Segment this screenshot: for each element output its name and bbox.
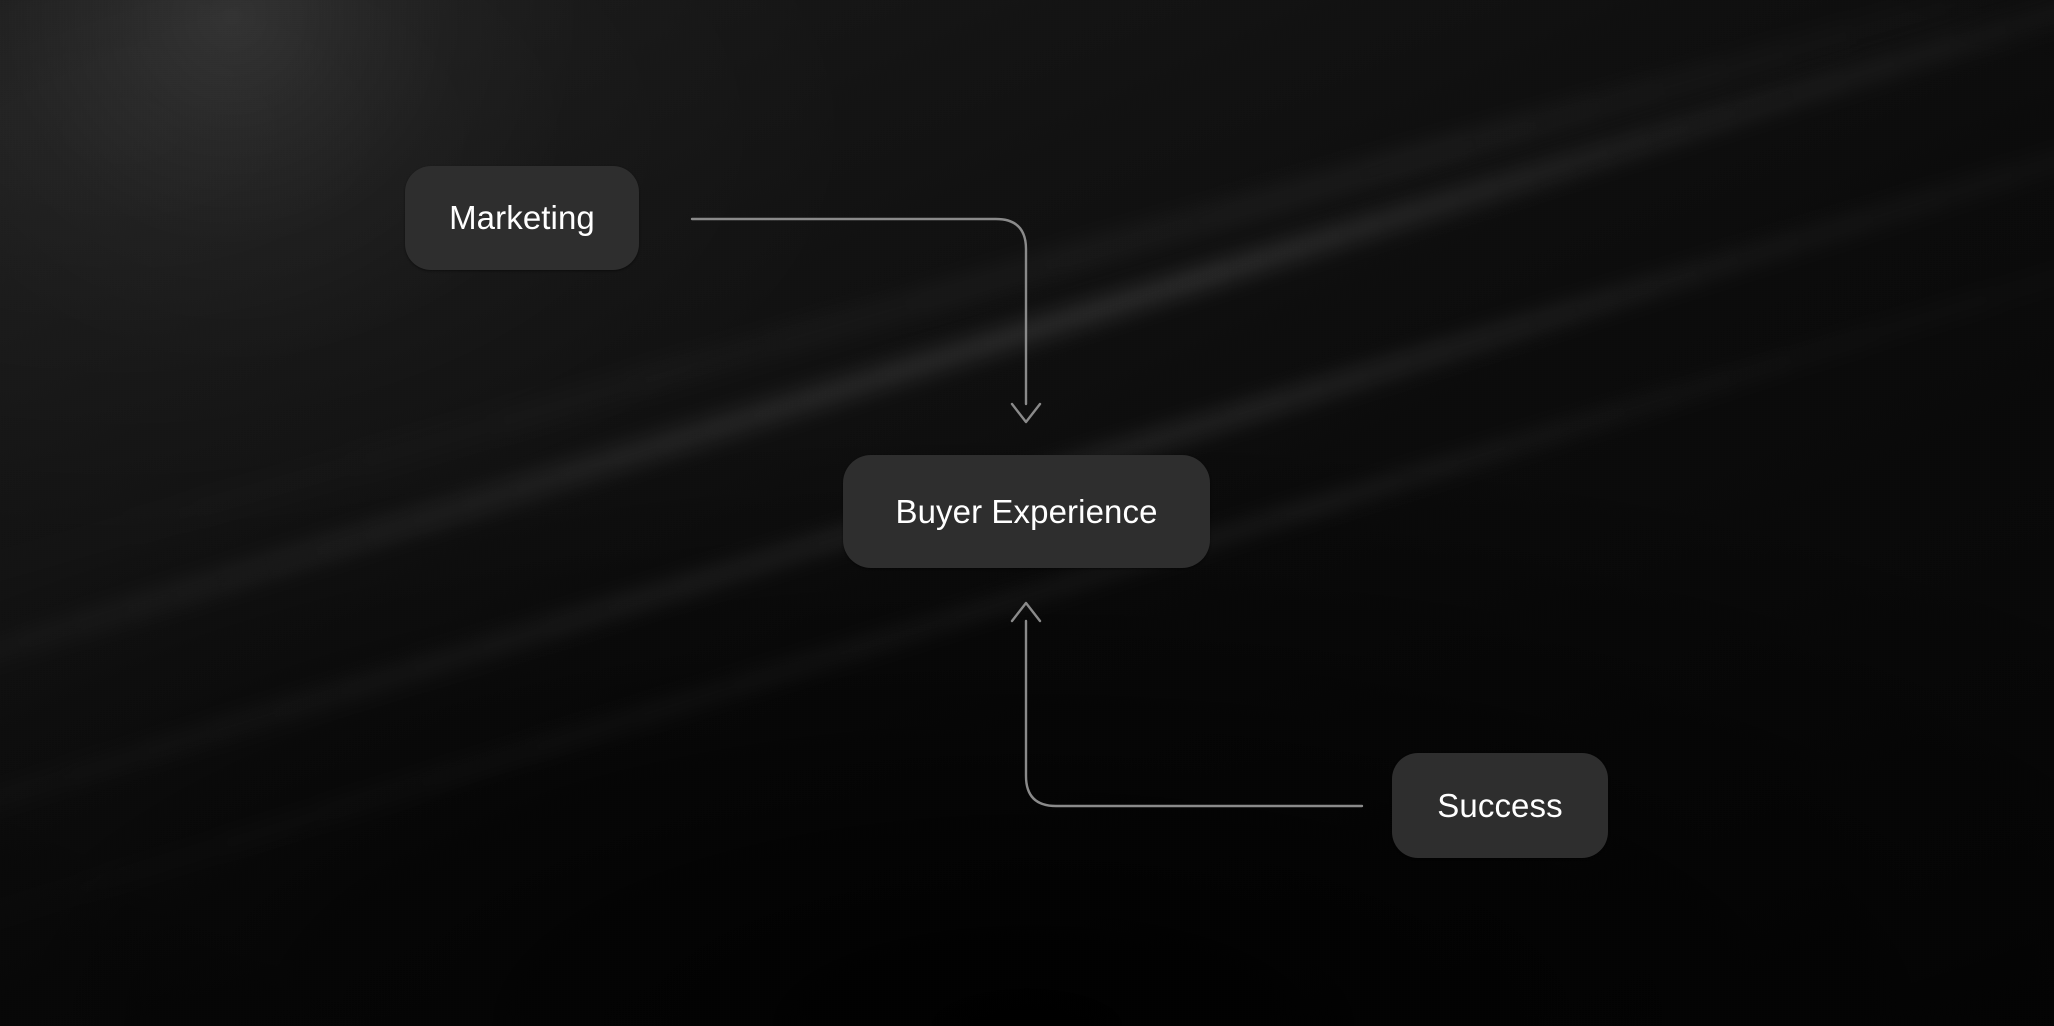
arrowhead-down-icon (1012, 404, 1040, 422)
edge-path (692, 219, 1026, 404)
node-buyer-experience-label: Buyer Experience (895, 493, 1157, 531)
node-success-label: Success (1437, 787, 1562, 825)
node-marketing-label: Marketing (449, 199, 595, 237)
edge-path (1026, 621, 1362, 806)
diagram-canvas[interactable]: Marketing Buyer Experience Success (0, 0, 2054, 1026)
edge-success-to-buyer-experience[interactable] (1012, 603, 1362, 806)
node-buyer-experience[interactable]: Buyer Experience (843, 455, 1210, 568)
node-success[interactable]: Success (1392, 753, 1608, 858)
arrowhead-up-icon (1012, 603, 1040, 621)
edge-marketing-to-buyer-experience[interactable] (692, 219, 1040, 422)
node-marketing[interactable]: Marketing (405, 166, 639, 270)
